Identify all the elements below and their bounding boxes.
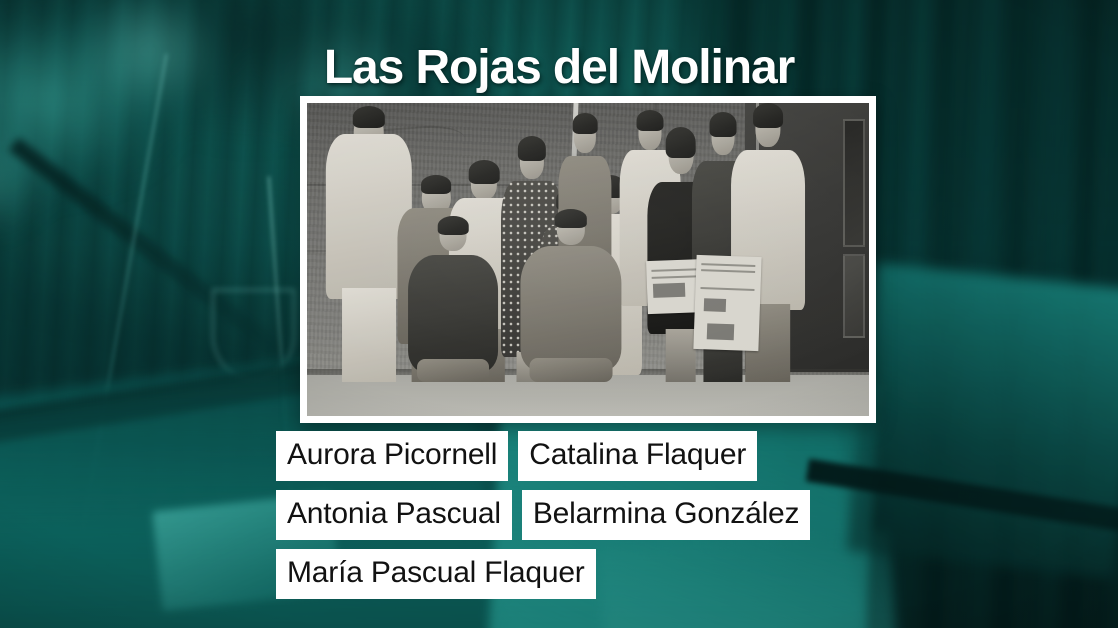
name-row: María Pascual Flaquer [276, 549, 810, 599]
historic-photo-frame [300, 96, 876, 423]
page-title: Las Rojas del Molinar [0, 40, 1118, 95]
name-row: Antonia Pascual Belarmina González [276, 490, 810, 540]
name-chip-antonia-pascual: Antonia Pascual [276, 490, 512, 540]
name-chip-aurora-picornell: Aurora Picornell [276, 431, 508, 481]
name-row: Aurora Picornell Catalina Flaquer [276, 431, 810, 481]
historic-photo-image [307, 103, 869, 416]
name-chip-belarmina-gonzalez: Belarmina González [522, 490, 811, 540]
photo-vignette [307, 103, 869, 416]
name-list: Aurora Picornell Catalina Flaquer Antoni… [276, 431, 810, 608]
name-chip-catalina-flaquer: Catalina Flaquer [518, 431, 757, 481]
broadcast-graphic: Las Rojas del Molinar [0, 0, 1118, 628]
name-chip-maria-pascual-flaquer: María Pascual Flaquer [276, 549, 596, 599]
